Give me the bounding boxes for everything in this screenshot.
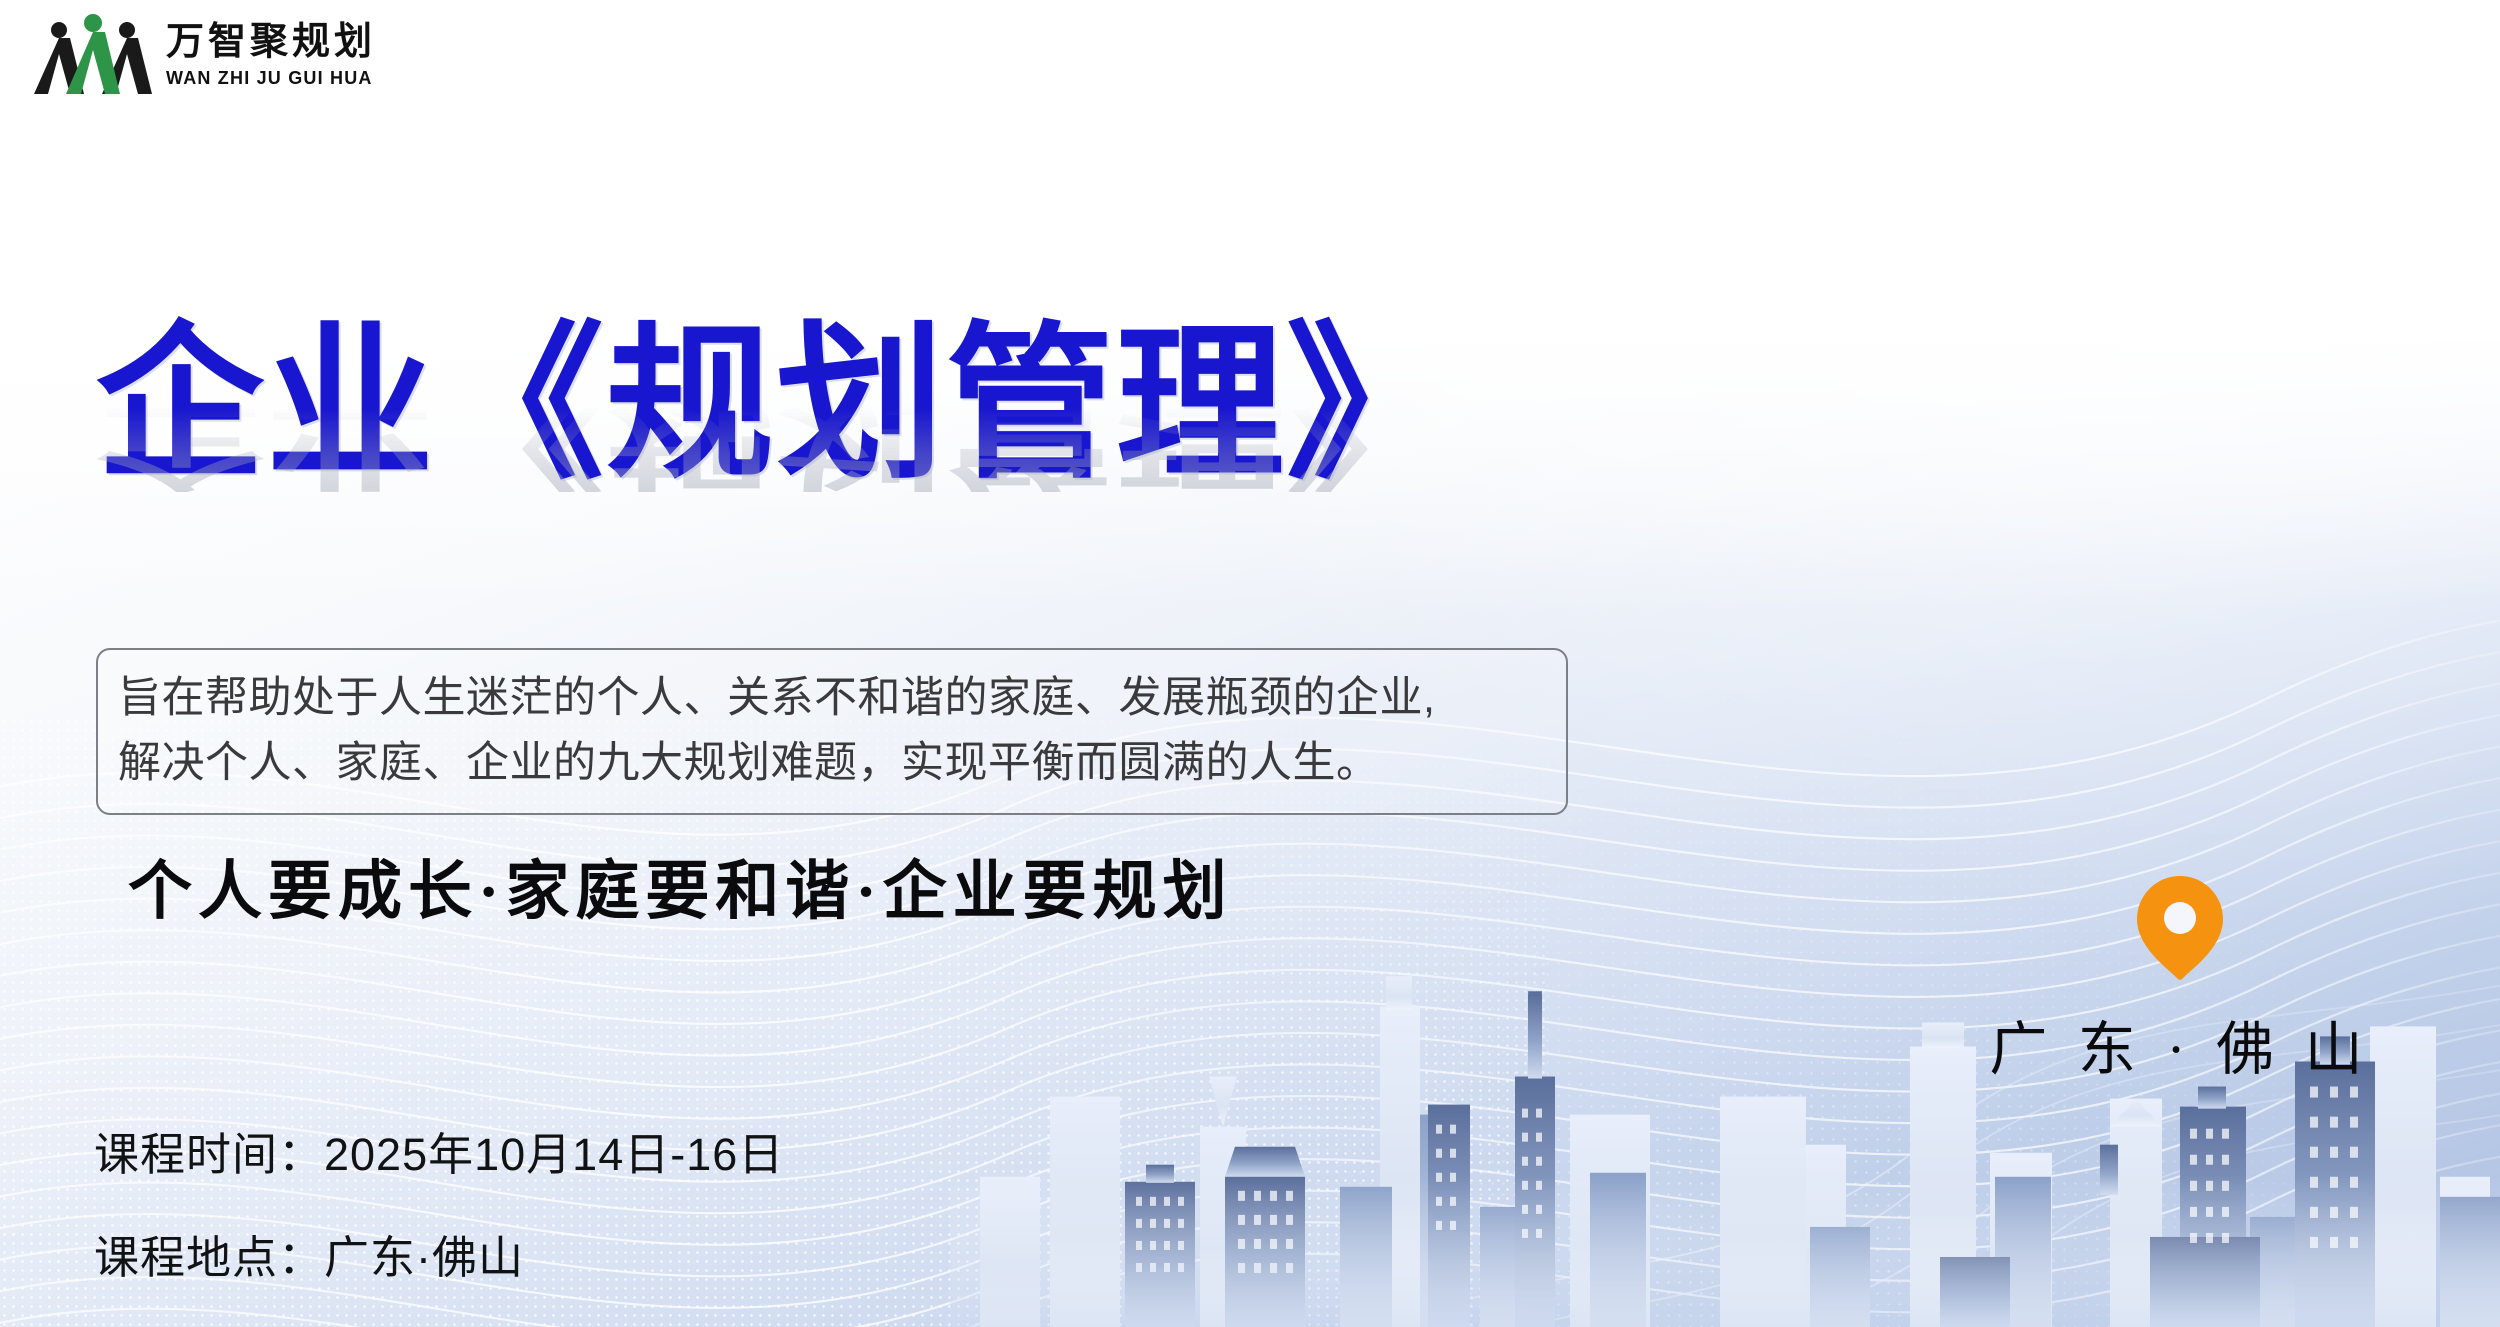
map-pin-icon [2137, 876, 2223, 980]
course-time-row: 课程时间：2025年10月14日-16日 [94, 1118, 784, 1183]
brand-logo-text: 万智聚规划 WAN ZHI JU GUI HUA [166, 23, 376, 87]
brand-name-pinyin: WAN ZHI JU GUI HUA [166, 69, 376, 87]
brand-logo[interactable]: 万智聚规划 WAN ZHI JU GUI HUA [34, 14, 376, 96]
course-place-row: 课程地点：广东·佛山 [94, 1221, 784, 1286]
course-info-block: 课程时间：2025年10月14日-16日 课程地点：广东·佛山 [94, 1118, 784, 1286]
brand-name-cn: 万智聚规划 [166, 23, 376, 61]
page-title: 企业《规划管理》 [96, 320, 1656, 488]
description-line-1: 旨在帮助处于人生迷茫的个人、关系不和谐的家庭、发展瓶颈的企业, [118, 666, 1548, 731]
poster-canvas: 万智聚规划 WAN ZHI JU GUI HUA 企业《规划管理》 企业《规划管… [0, 0, 2500, 1327]
hero-title-block: 企业《规划管理》 企业《规划管理》 [96, 320, 1656, 660]
location-label: 广 东 · 佛 山 [1989, 1002, 2370, 1086]
three-people-logo-icon [34, 14, 152, 96]
location-block: 广 东 · 佛 山 [1960, 876, 2400, 1086]
slogan-text: 个人要成长·家庭要和谐·企业要规划 [128, 840, 1233, 932]
description-line-2: 解决个人、家庭、企业的九大规划难题，实现平衡而圆满的人生。 [118, 731, 1548, 796]
description-box: 旨在帮助处于人生迷茫的个人、关系不和谐的家庭、发展瓶颈的企业, 解决个人、家庭、… [96, 648, 1568, 815]
